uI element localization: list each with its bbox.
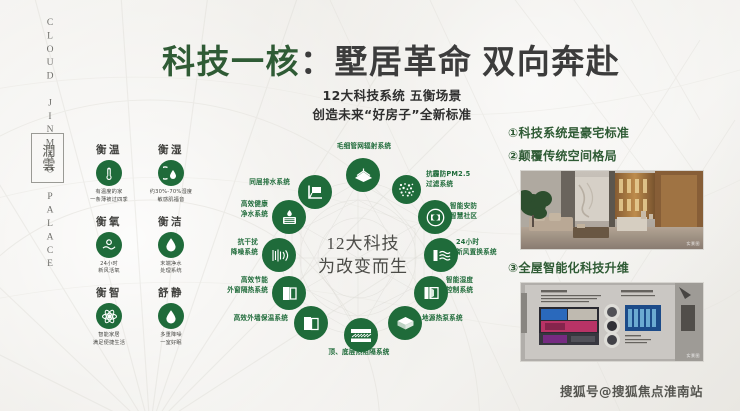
feature-desc-l2: 敏感肌福音 <box>145 197 197 205</box>
node-label-line: 净水系统 <box>210 210 268 220</box>
right-item-2-text: 颠覆传统空间格局 <box>518 149 616 163</box>
feature-grid-row: 衡温 有温度的家 一条薄被过四季 衡湿 约30%-70%湿度 敏感肌福音 <box>83 142 198 205</box>
node-label-security: 智能安防 智慧社区 <box>450 202 477 221</box>
node-label-line: 高效节能 <box>210 276 268 286</box>
water-purifier-icon[interactable] <box>272 200 306 234</box>
node-label-pm25: 抗霾防PM2.5 过滤系统 <box>426 170 470 189</box>
page-subtitle: 12大科技系统 五衡场景 创造未来“好房子”全新标准 <box>282 86 502 125</box>
wall-insulation-icon[interactable] <box>294 306 328 340</box>
node-label-line: 高效外墙保温系统 <box>224 314 288 324</box>
node-label-line: 同层排水系统 <box>222 178 290 188</box>
wheel-center-text: 12大科技 为改变而生 <box>318 233 408 279</box>
node-label-line: 高效健康 <box>210 200 268 210</box>
subtitle-line-2: 创造未来“好房子”全新标准 <box>282 105 502 124</box>
brand-vertical-text: CLOUD JINMAO PALACE <box>33 18 55 128</box>
feature-desc-l1: 多重降噪 <box>145 332 197 340</box>
feature-desc-l2: 一条薄被过四季 <box>83 197 135 205</box>
page-title-dark: ：墅居革命 双向奔赴 <box>300 45 620 81</box>
node-label-line: 智能湿度 <box>446 276 473 286</box>
feature-desc-l2: 新风活氧 <box>83 268 135 276</box>
node-label-geothermal: 地源热泵系统 <box>422 314 463 324</box>
node-label-line: 外窗隔热系统 <box>210 286 268 296</box>
window-insulation-icon[interactable] <box>272 276 306 310</box>
noise-reduction-icon[interactable] <box>262 238 296 272</box>
feature-desc-l1: 智能家居 <box>83 332 135 340</box>
node-label-noise: 抗干扰 降噪系统 <box>214 238 258 257</box>
slide-canvas: CLOUD JINMAO PALACE 潤雲 科技一核：墅居革命 双向奔赴 12… <box>0 0 740 411</box>
node-label-line: 过滤系统 <box>426 180 470 190</box>
wheel-center-line-2: 为改变而生 <box>318 256 408 279</box>
feature-desc: 多重降噪 一室好眠 <box>145 332 197 348</box>
node-label-drainage: 同层排水系统 <box>222 178 290 188</box>
right-item-1-num: ① <box>508 126 518 140</box>
right-item-3: ③全屋智能化科技升维 <box>508 259 723 276</box>
feature-title: 舒静 <box>145 285 197 300</box>
node-label-line: 24小时 <box>456 238 497 248</box>
feature-desc-l1: 有温度的家 <box>83 189 135 197</box>
node-label-water-purifier: 高效健康 净水系统 <box>210 200 268 219</box>
thermometer-icon <box>96 160 122 186</box>
photo-stamp: 实景图 <box>687 353 701 359</box>
smart-home-tech-display-photo[interactable]: 实景图 <box>520 282 704 362</box>
feature-cell-hengyang: 衡氧 24小时 新风活氧 <box>83 214 135 277</box>
brand-logo-chinese: 潤雲 <box>41 144 55 172</box>
geothermal-pump-icon[interactable] <box>388 306 422 340</box>
feature-title: 衡氧 <box>83 214 135 229</box>
node-label-line: 智慧社区 <box>450 212 477 222</box>
node-label-line: 地源热泵系统 <box>422 314 463 324</box>
feature-desc-l2: 处理系统 <box>145 268 197 276</box>
feature-desc-l1: 约30%-70%湿度 <box>145 189 197 197</box>
node-label-line: 抗干扰 <box>214 238 258 248</box>
right-info-panel: ①科技系统是豪宅标准 ②颠覆传统空间格局 <box>508 124 723 371</box>
feature-cell-hengzhi: 衡智 智能家居 满足便捷生活 <box>83 285 135 348</box>
security-shield-icon[interactable] <box>418 200 452 234</box>
node-label-line: 抗霾防PM2.5 <box>426 170 470 180</box>
watermark: 搜狐号@搜狐焦点淮南站 <box>560 381 703 400</box>
node-label-ventilation: 24小时 新风置换系统 <box>456 238 497 257</box>
feature-desc: 约30%-70%湿度 敏感肌福音 <box>145 189 197 205</box>
feature-grid-row: 衡智 智能家居 满足便捷生活 舒静 多重降噪 一室好眠 <box>83 285 198 348</box>
node-label-line: 控制系统 <box>446 286 473 296</box>
node-label-line: 降噪系统 <box>214 248 258 258</box>
right-item-1-text: 科技系统是豪宅标准 <box>518 126 629 140</box>
luxury-living-room-photo[interactable]: 实景图 <box>520 170 704 250</box>
right-item-2: ②颠覆传统空间格局 <box>508 147 723 164</box>
twelve-tech-wheel: 12大科技 为改变而生 毛细管网辐射系统 抗霾防PM2.5 过滤系统 智能安防 … <box>232 142 494 370</box>
feature-desc: 智能家居 满足便捷生活 <box>83 332 135 348</box>
right-item-3-num: ③ <box>508 261 518 275</box>
pm25-filter-icon[interactable] <box>392 175 421 204</box>
node-label-line: 毛细管网辐射系统 <box>318 142 410 152</box>
feature-title: 衡智 <box>83 285 135 300</box>
thermal-barrier-icon[interactable] <box>344 318 378 352</box>
humidity-control-icon[interactable] <box>414 276 448 310</box>
right-item-1: ①科技系统是豪宅标准 <box>508 124 723 141</box>
feature-desc: 末端净水 处理系统 <box>145 261 197 277</box>
page-title-green: 科技一核 <box>162 45 300 81</box>
feature-desc-l2: 一室好眠 <box>145 340 197 348</box>
feature-title: 衡洁 <box>145 214 197 229</box>
quiet-drop-icon <box>158 303 184 329</box>
fresh-air-icon <box>96 232 122 258</box>
ventilation-icon[interactable] <box>424 238 458 272</box>
feature-desc: 24小时 新风活氧 <box>83 261 135 277</box>
node-label-humidity-ctrl: 智能湿度 控制系统 <box>446 276 473 295</box>
feature-desc: 有温度的家 一条薄被过四季 <box>83 189 135 205</box>
node-label-radiant: 毛细管网辐射系统 <box>318 142 410 152</box>
node-label-wall-insulation: 高效外墙保温系统 <box>224 314 288 324</box>
feature-title: 衡湿 <box>145 142 197 157</box>
feature-cell-hengjie: 衡洁 末端净水 处理系统 <box>145 214 197 277</box>
feature-cell-hengshi: 衡湿 约30%-70%湿度 敏感肌福音 <box>145 142 197 205</box>
feature-grid: 衡温 有温度的家 一条薄被过四季 衡湿 约30%-70%湿度 敏感肌福音 <box>83 142 198 357</box>
drainage-icon[interactable] <box>298 175 332 209</box>
node-label-thermal-barrier: 顶、底层热阻隔系统 <box>304 348 414 358</box>
feature-title: 衡温 <box>83 142 135 157</box>
feature-cell-hengwen: 衡温 有温度的家 一条薄被过四季 <box>83 142 135 205</box>
humidity-drop-icon <box>158 160 184 186</box>
feature-desc-l2: 满足便捷生活 <box>83 340 135 348</box>
subtitle-line-1: 12大科技系统 五衡场景 <box>282 86 502 105</box>
water-drop-icon <box>158 232 184 258</box>
right-item-2-num: ② <box>508 149 518 163</box>
page-title: 科技一核：墅居革命 双向奔赴 <box>162 35 620 83</box>
brand-logo-box: 潤雲 <box>31 133 64 183</box>
wheel-center-line-1: 12大科技 <box>318 233 408 256</box>
node-label-line: 顶、底层热阻隔系统 <box>304 348 414 358</box>
smart-atom-icon <box>96 303 122 329</box>
photo-stamp: 实景图 <box>687 241 701 247</box>
right-item-3-text: 全屋智能化科技升维 <box>518 261 629 275</box>
radiant-panel-icon[interactable] <box>346 158 380 192</box>
node-label-line: 智能安防 <box>450 202 477 212</box>
node-label-line: 新风置换系统 <box>456 248 497 258</box>
feature-cell-shujing: 舒静 多重降噪 一室好眠 <box>145 285 197 348</box>
feature-grid-row: 衡氧 24小时 新风活氧 衡洁 末端净水 处理系统 <box>83 214 198 277</box>
node-label-window-insulation: 高效节能 外窗隔热系统 <box>210 276 268 295</box>
